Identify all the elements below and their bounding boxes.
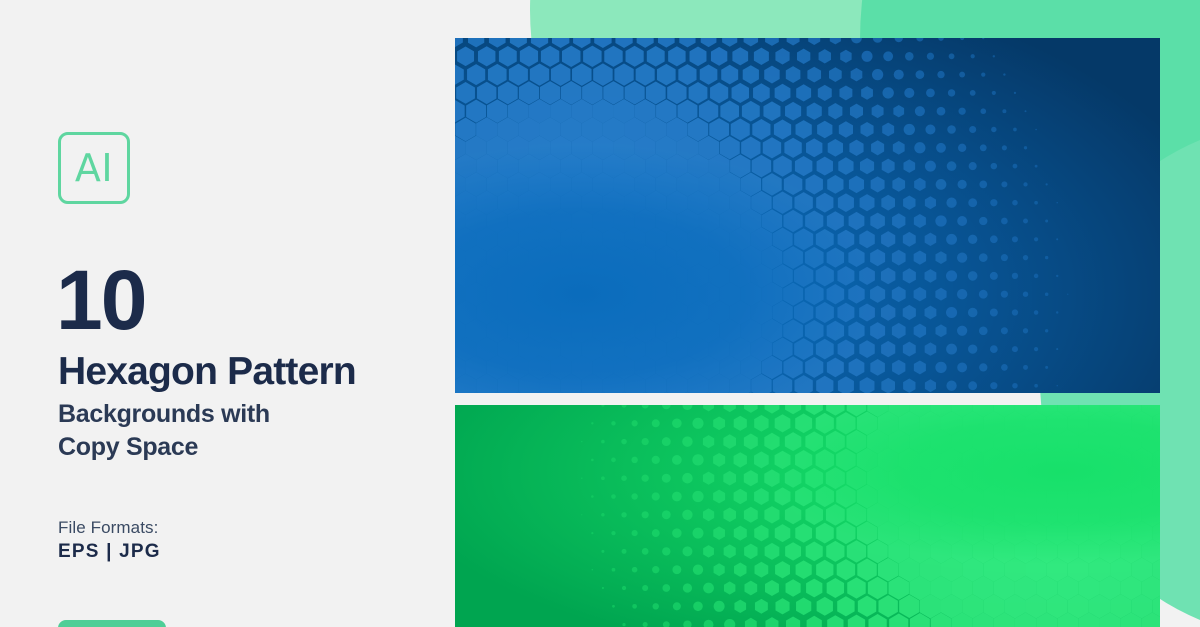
blue-hexagon-pattern-card[interactable]: [455, 38, 1160, 393]
blue-hexagon-pattern-svg: [455, 38, 1160, 393]
green-hexagon-pattern-card[interactable]: [455, 405, 1160, 627]
preview-canvas: AI 10 Hexagon Pattern Backgrounds with C…: [0, 0, 1200, 627]
file-formats-label: File Formats:: [58, 518, 158, 538]
file-formats-value: EPS | JPG: [58, 541, 161, 563]
page-subtitle: Backgrounds with Copy Space: [58, 398, 270, 464]
green-hexagon-pattern-svg: [455, 405, 1160, 627]
page-subtitle-line: Copy Space: [58, 431, 270, 464]
cta-pill-button[interactable]: [58, 620, 166, 627]
adobe-illustrator-badge-icon: AI: [58, 132, 130, 204]
info-panel: AI 10 Hexagon Pattern Backgrounds with C…: [0, 0, 455, 627]
item-count: 10: [56, 258, 145, 342]
ai-badge-label: AI: [75, 149, 113, 187]
page-title: Hexagon Pattern: [58, 352, 356, 391]
page-subtitle-line: Backgrounds with: [58, 398, 270, 431]
